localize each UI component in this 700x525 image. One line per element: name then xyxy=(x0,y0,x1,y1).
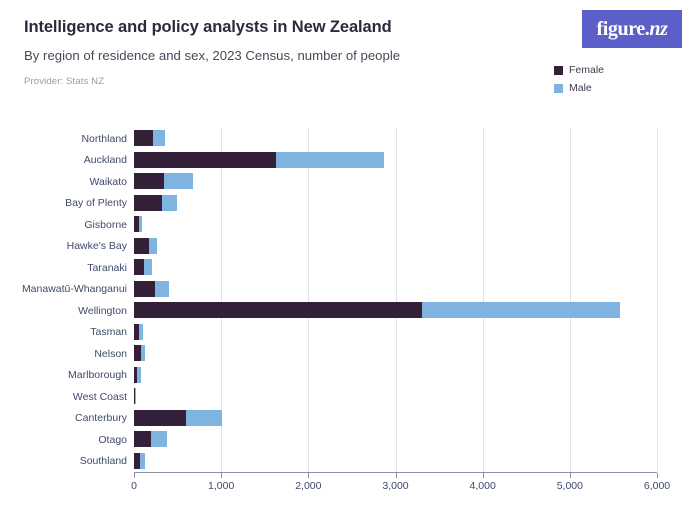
stacked-bar[interactable] xyxy=(134,431,167,447)
bar-segment-male[interactable] xyxy=(141,345,145,361)
bar-segment-male[interactable] xyxy=(144,259,152,275)
legend-swatch-icon xyxy=(554,66,563,75)
category-label: Manawatū-Whanganui xyxy=(22,283,127,295)
stacked-bar[interactable] xyxy=(134,281,169,297)
chart-row[interactable]: Nelson xyxy=(134,343,657,365)
stacked-bar[interactable] xyxy=(134,345,145,361)
bar-rows: NorthlandAucklandWaikatoBay of PlentyGis… xyxy=(134,128,657,472)
data-provider-label: Provider: Stats NZ xyxy=(24,76,544,87)
bar-segment-male[interactable] xyxy=(276,152,384,168)
plot-wrapper: NorthlandAucklandWaikatoBay of PlentyGis… xyxy=(0,118,700,518)
chart-row[interactable]: Auckland xyxy=(134,150,657,172)
legend-item-male[interactable]: Male xyxy=(554,82,604,94)
bar-segment-female[interactable] xyxy=(134,173,164,189)
logo-text: figure.nz xyxy=(596,18,667,41)
bar-segment-male[interactable] xyxy=(162,195,177,211)
bar-segment-male[interactable] xyxy=(139,324,143,340)
x-tick-mark xyxy=(657,473,658,478)
bar-segment-male[interactable] xyxy=(155,281,169,297)
stacked-bar[interactable] xyxy=(134,324,143,340)
bar-segment-female[interactable] xyxy=(134,431,151,447)
category-label: Auckland xyxy=(84,154,127,166)
bar-segment-female[interactable] xyxy=(134,281,155,297)
chart-row[interactable]: West Coast xyxy=(134,386,657,408)
x-tick-mark xyxy=(308,473,309,478)
bar-segment-male[interactable] xyxy=(137,367,141,383)
x-tick-label: 4,000 xyxy=(470,480,496,492)
category-label: Tasman xyxy=(90,326,127,338)
chart-row[interactable]: Canterbury xyxy=(134,408,657,430)
stacked-bar[interactable] xyxy=(134,130,165,146)
x-tick-label: 1,000 xyxy=(208,480,234,492)
stacked-bar[interactable] xyxy=(134,216,142,232)
stacked-bar[interactable] xyxy=(134,453,145,469)
stacked-bar[interactable] xyxy=(134,152,384,168)
chart-page: Intelligence and policy analysts in New … xyxy=(0,0,700,525)
category-label: Gisborne xyxy=(84,219,127,231)
bar-segment-female[interactable] xyxy=(134,259,144,275)
x-tick-label: 3,000 xyxy=(382,480,408,492)
x-tick-mark xyxy=(221,473,222,478)
x-tick-mark xyxy=(483,473,484,478)
bar-segment-male[interactable] xyxy=(164,173,193,189)
bar-segment-female[interactable] xyxy=(134,345,141,361)
bar-segment-male[interactable] xyxy=(151,431,167,447)
category-label: Canterbury xyxy=(75,412,127,424)
stacked-bar[interactable] xyxy=(134,195,177,211)
chart-subtitle: By region of residence and sex, 2023 Cen… xyxy=(24,48,544,64)
category-label: Marlborough xyxy=(68,369,127,381)
category-label: Waikato xyxy=(89,176,127,188)
stacked-bar[interactable] xyxy=(134,302,620,318)
chart-row[interactable]: Taranaki xyxy=(134,257,657,279)
figurenz-logo[interactable]: figure.nz xyxy=(582,10,682,48)
chart-row[interactable]: Otago xyxy=(134,429,657,451)
bar-segment-male[interactable] xyxy=(186,410,222,426)
category-label: Southland xyxy=(80,455,127,467)
chart-row[interactable]: Waikato xyxy=(134,171,657,193)
legend-swatch-icon xyxy=(554,84,563,93)
legend-label: Male xyxy=(569,82,592,94)
stacked-bar[interactable] xyxy=(134,388,136,404)
legend-item-female[interactable]: Female xyxy=(554,64,604,76)
chart-row[interactable]: Hawke's Bay xyxy=(134,236,657,258)
x-tick-mark xyxy=(396,473,397,478)
stacked-bar[interactable] xyxy=(134,173,193,189)
x-tick-mark xyxy=(570,473,571,478)
category-label: Otago xyxy=(98,434,127,446)
legend-label: Female xyxy=(569,64,604,76)
plot-area: NorthlandAucklandWaikatoBay of PlentyGis… xyxy=(134,128,657,472)
category-label: Northland xyxy=(81,133,127,145)
chart-row[interactable]: Marlborough xyxy=(134,365,657,387)
bar-segment-female[interactable] xyxy=(134,410,186,426)
stacked-bar[interactable] xyxy=(134,238,157,254)
chart-row[interactable]: Northland xyxy=(134,128,657,150)
bar-segment-female[interactable] xyxy=(134,152,276,168)
category-label: Bay of Plenty xyxy=(65,197,127,209)
stacked-bar[interactable] xyxy=(134,367,141,383)
x-tick-label: 0 xyxy=(131,480,137,492)
bar-segment-male[interactable] xyxy=(140,453,145,469)
x-tick-label: 5,000 xyxy=(557,480,583,492)
chart-row[interactable]: Southland xyxy=(134,451,657,473)
bar-segment-female[interactable] xyxy=(134,238,149,254)
stacked-bar[interactable] xyxy=(134,259,152,275)
bar-segment-male[interactable] xyxy=(153,130,165,146)
x-tick-mark xyxy=(134,473,135,478)
category-label: Hawke's Bay xyxy=(67,240,127,252)
bar-segment-male[interactable] xyxy=(135,388,136,404)
bar-segment-female[interactable] xyxy=(134,130,153,146)
chart-header: Intelligence and policy analysts in New … xyxy=(24,18,544,87)
x-tick-label: 2,000 xyxy=(295,480,321,492)
chart-row[interactable]: Tasman xyxy=(134,322,657,344)
bar-segment-male[interactable] xyxy=(149,238,157,254)
chart-row[interactable]: Wellington xyxy=(134,300,657,322)
gridline xyxy=(657,128,658,472)
stacked-bar[interactable] xyxy=(134,410,222,426)
category-label: Taranaki xyxy=(87,262,127,274)
bar-segment-female[interactable] xyxy=(134,302,422,318)
logo-text-main: figure. xyxy=(596,18,649,40)
chart-legend: FemaleMale xyxy=(554,64,604,94)
bar-segment-male[interactable] xyxy=(139,216,142,232)
category-label: Wellington xyxy=(78,305,127,317)
category-label: West Coast xyxy=(73,391,127,403)
chart-row[interactable]: Manawatū-Whanganui xyxy=(134,279,657,301)
chart-row[interactable]: Gisborne xyxy=(134,214,657,236)
logo-text-suffix: nz xyxy=(649,18,667,40)
bar-segment-female[interactable] xyxy=(134,195,162,211)
page-title: Intelligence and policy analysts in New … xyxy=(24,18,544,37)
category-label: Nelson xyxy=(94,348,127,360)
x-tick-label: 6,000 xyxy=(644,480,670,492)
bar-segment-male[interactable] xyxy=(422,302,620,318)
chart-row[interactable]: Bay of Plenty xyxy=(134,193,657,215)
